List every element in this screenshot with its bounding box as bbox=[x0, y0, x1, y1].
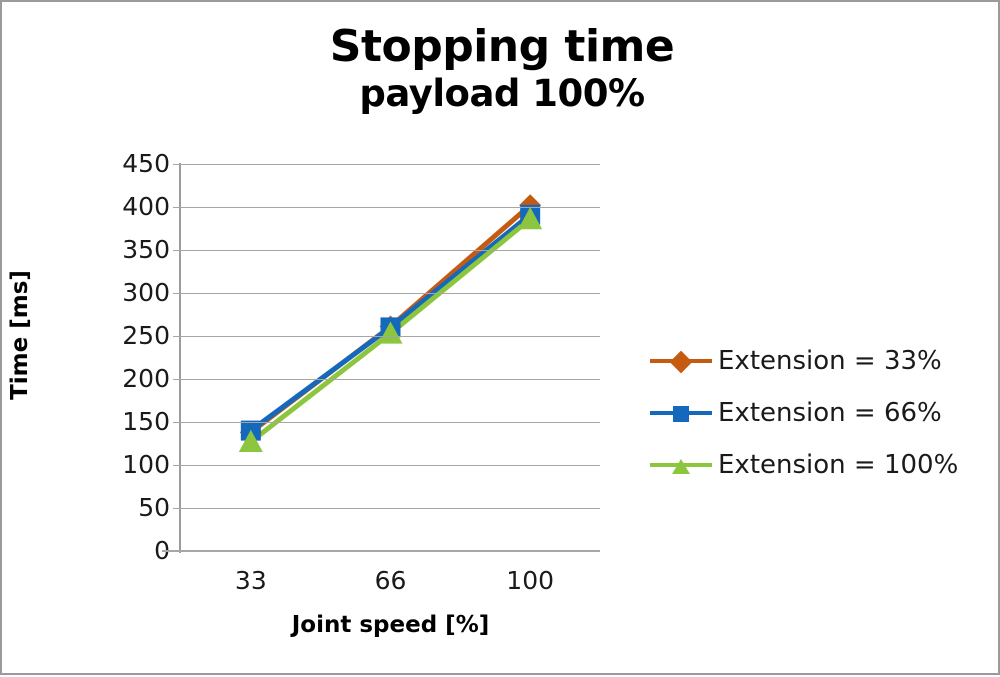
y-axis-tick-label: 250 bbox=[98, 323, 170, 348]
gridline bbox=[181, 336, 600, 337]
gridline bbox=[181, 508, 600, 509]
plot-area bbox=[181, 164, 600, 551]
y-axis-tick-mark bbox=[173, 336, 181, 337]
y-axis-tick-label: 200 bbox=[98, 366, 170, 391]
legend-item-3[interactable]: Extension = 100% bbox=[650, 439, 990, 491]
legend-item-1[interactable]: Extension = 33% bbox=[650, 335, 990, 387]
y-axis-tick-labels: 450400350300250200150100500 bbox=[90, 2, 170, 677]
legend-item-2[interactable]: Extension = 66% bbox=[650, 387, 990, 439]
legend-marker-diamond-icon bbox=[670, 351, 693, 374]
y-axis-tick-mark bbox=[173, 379, 181, 380]
gridline bbox=[181, 250, 600, 251]
legend-swatch bbox=[650, 350, 712, 372]
chart-frame: Stopping time payload 100% 4504003503002… bbox=[0, 0, 1000, 675]
y-axis-tick-mark bbox=[173, 422, 181, 423]
gridline bbox=[181, 207, 600, 208]
gridline bbox=[181, 164, 600, 165]
x-axis-title: Joint speed [%] bbox=[181, 612, 600, 638]
legend-marker-triangle-icon bbox=[672, 459, 690, 474]
y-axis-tick-mark bbox=[173, 207, 181, 208]
legend-item-label: Extension = 66% bbox=[718, 398, 942, 428]
legend-swatch bbox=[650, 454, 712, 476]
y-axis-tick-mark bbox=[173, 293, 181, 294]
legend-marker-square-icon bbox=[673, 406, 689, 422]
y-axis-tick-mark bbox=[173, 465, 181, 466]
legend-item-label: Extension = 100% bbox=[718, 450, 958, 480]
legend-item-label: Extension = 33% bbox=[718, 346, 942, 376]
y-axis-tick-label: 0 bbox=[98, 538, 170, 563]
y-axis-tick-mark bbox=[173, 508, 181, 509]
y-axis-tick-mark bbox=[173, 250, 181, 251]
series-layer bbox=[181, 164, 600, 551]
gridline bbox=[181, 465, 600, 466]
gridline bbox=[181, 379, 600, 380]
x-axis-tick-label: 33 bbox=[206, 568, 296, 593]
gridline bbox=[181, 293, 600, 294]
y-axis-tick-label: 100 bbox=[98, 452, 170, 477]
y-axis-tick-label: 350 bbox=[98, 237, 170, 262]
y-axis-tick-mark bbox=[173, 164, 181, 165]
legend-swatch bbox=[650, 402, 712, 424]
y-axis-tick-label: 50 bbox=[98, 495, 170, 520]
x-axis-tick-label: 66 bbox=[346, 568, 436, 593]
y-axis-tick-mark bbox=[173, 551, 181, 552]
y-axis-tick-label: 300 bbox=[98, 280, 170, 305]
gridline bbox=[181, 422, 600, 423]
chart-legend: Extension = 33%Extension = 66%Extension … bbox=[650, 335, 990, 491]
y-axis-title: Time [ms] bbox=[7, 255, 33, 415]
y-axis-tick-label: 450 bbox=[98, 151, 170, 176]
y-axis-tick-label: 400 bbox=[98, 194, 170, 219]
x-axis-tick-label: 100 bbox=[485, 568, 575, 593]
y-axis-tick-label: 150 bbox=[98, 409, 170, 434]
